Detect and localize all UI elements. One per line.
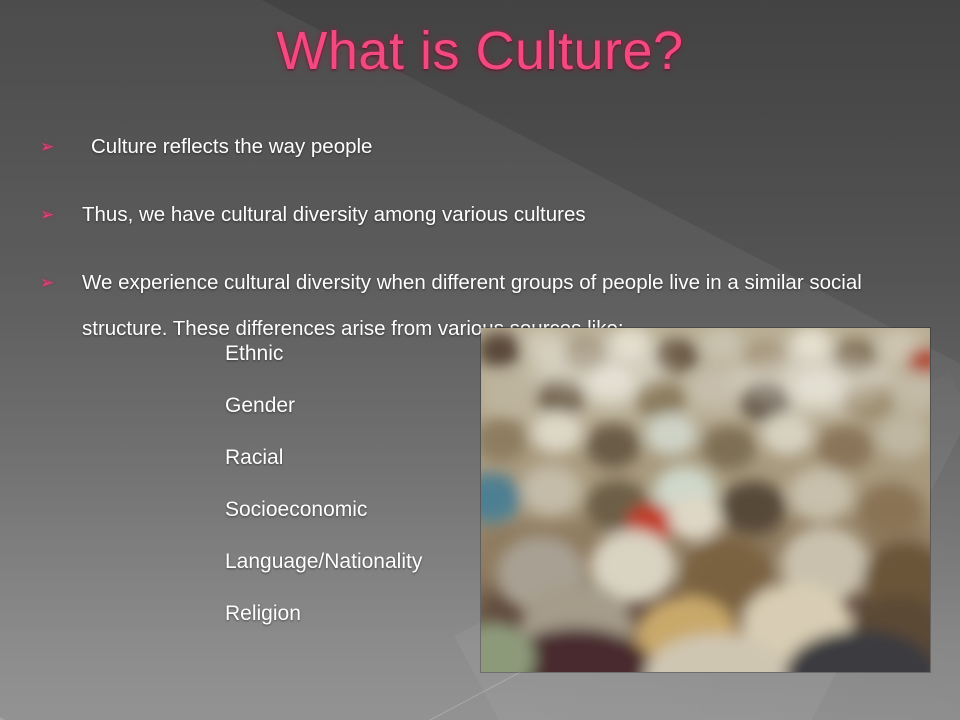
arrow-bullet-icon: ➢ bbox=[40, 260, 66, 306]
bullet-item-1: ➢ Culture reflects the way people bbox=[38, 124, 926, 170]
arrow-bullet-icon: ➢ bbox=[40, 192, 66, 238]
source-sublist: Ethnic Gender Racial Socioeconomic Langu… bbox=[225, 328, 422, 640]
slide-canvas: What is Culture? ➢ Culture reflects the … bbox=[0, 0, 960, 720]
sublist-item-ethnic: Ethnic bbox=[225, 328, 422, 380]
arrow-bullet-icon: ➢ bbox=[40, 124, 66, 170]
slide-title: What is Culture? bbox=[0, 20, 960, 82]
bullet-item-2: ➢ Thus, we have cultural diversity among… bbox=[38, 192, 926, 238]
crowd-photo bbox=[481, 328, 930, 672]
bullet-text-2: Thus, we have cultural diversity among v… bbox=[82, 192, 926, 238]
sublist-item-racial: Racial bbox=[225, 432, 422, 484]
sublist-item-socioeconomic: Socioeconomic bbox=[225, 484, 422, 536]
bullet-text-1: Culture reflects the way people bbox=[82, 124, 926, 170]
crowd-photo-illustration bbox=[481, 328, 930, 672]
sublist-item-religion: Religion bbox=[225, 588, 422, 640]
sublist-item-language-nationality: Language/Nationality bbox=[225, 536, 422, 588]
sublist-item-gender: Gender bbox=[225, 380, 422, 432]
